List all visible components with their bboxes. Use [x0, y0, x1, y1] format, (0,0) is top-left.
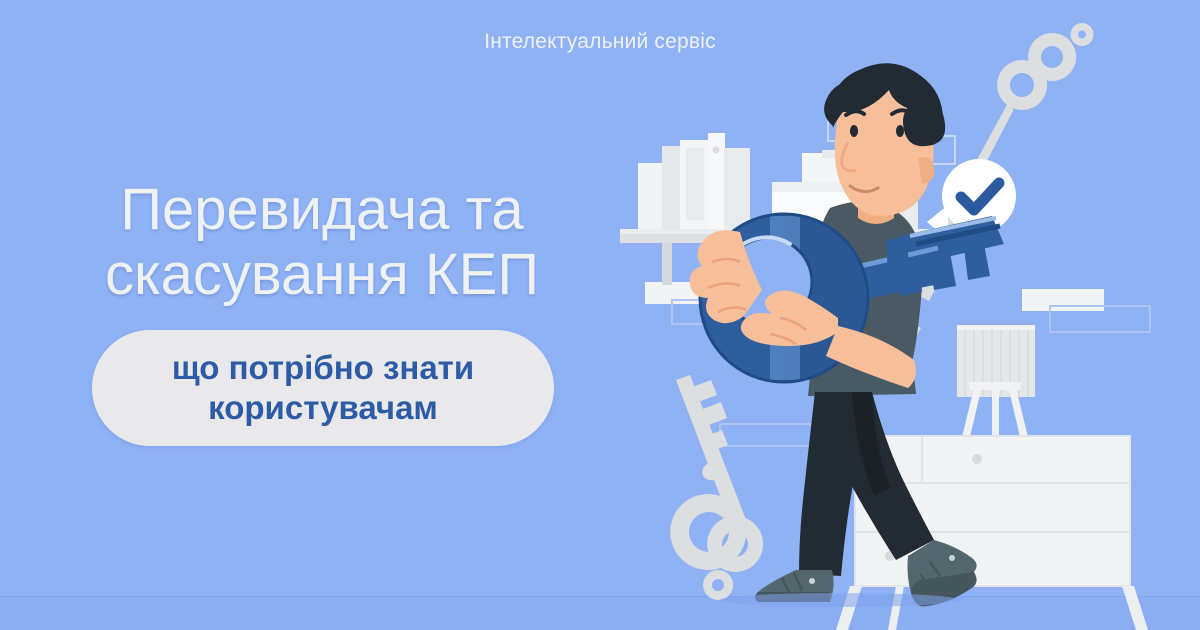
brand-tagline: Інтелектуальний сервіс: [0, 30, 1200, 54]
large-blue-key: [690, 214, 1004, 388]
subtitle-badge-label: що потрібно знати користувачам: [172, 348, 474, 429]
illustration: [600, 0, 1200, 630]
poster-canvas: Інтелектуальний сервіс Перевидача та ска…: [0, 0, 1200, 630]
table-lamp: [957, 325, 1035, 440]
decor-key-left: [670, 375, 763, 600]
subtitle-badge: що потрібно знати користувачам: [92, 330, 554, 446]
page-title: Перевидача та скасування КЕП: [62, 178, 582, 308]
